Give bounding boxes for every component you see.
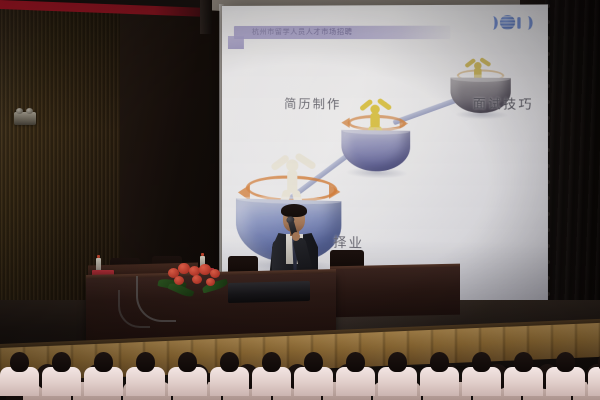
logo-arc-left [488, 16, 498, 30]
audience-head [262, 352, 281, 372]
audience-head [10, 352, 29, 372]
flower-bloom [178, 263, 190, 274]
audience-member [504, 352, 543, 400]
slide-header-tab [228, 36, 244, 49]
audience-member [546, 352, 585, 400]
audience-member [294, 352, 333, 400]
flower-bloom [206, 278, 215, 286]
audience-head [178, 352, 197, 372]
seated-audience [0, 352, 600, 400]
auditorium-photo: 杭州市留学人员人才市场招聘 [0, 0, 600, 400]
audience-head [514, 352, 533, 372]
audience-head [94, 352, 113, 372]
audience-member [588, 352, 600, 400]
logo-bar [517, 17, 520, 29]
audience-member [168, 352, 207, 400]
flower-bloom [192, 275, 202, 284]
slide-label-interview-skills: 面试技巧 [473, 94, 534, 112]
orbit-arrow-right-2 [400, 118, 408, 128]
logo-globe-icon [500, 15, 515, 30]
audience-head [52, 352, 71, 372]
audience-member [0, 352, 39, 400]
audience-torso [588, 367, 600, 396]
conference-table-right [330, 267, 460, 318]
slide-header-title: 杭州市留学人员人才市场招聘 [252, 27, 353, 37]
organization-logo [488, 15, 533, 30]
audience-head [136, 352, 155, 372]
audience-head [346, 352, 365, 372]
audience-head [472, 352, 491, 372]
audience-head [430, 352, 449, 372]
slide-label-career-choice: 择业 [333, 231, 364, 251]
speaker-hair [281, 204, 307, 217]
audience-member [84, 352, 123, 400]
flower-bloom [210, 269, 220, 278]
bowl-resume-writing [341, 130, 410, 172]
audience-head [220, 352, 239, 372]
audience-member [336, 352, 375, 400]
audience-member [42, 352, 81, 400]
ceiling-rail [200, 0, 212, 34]
audience-member [126, 352, 165, 400]
orbit-arrow-left-2 [341, 118, 349, 128]
emergency-light [14, 112, 36, 125]
audience-member [462, 352, 501, 400]
speaker-hand [292, 232, 300, 241]
audience-head [388, 352, 407, 372]
audience-head [304, 352, 323, 372]
audience-member [210, 352, 249, 400]
audience-member [252, 352, 291, 400]
audience-member [420, 352, 459, 400]
laptop-bag [228, 281, 310, 303]
audience-head [556, 352, 575, 372]
audience-member [378, 352, 417, 400]
orbit-arrow-right-1 [329, 185, 340, 200]
slide-label-resume-writing: 简历制作 [284, 95, 341, 113]
logo-arc-right [523, 16, 533, 30]
